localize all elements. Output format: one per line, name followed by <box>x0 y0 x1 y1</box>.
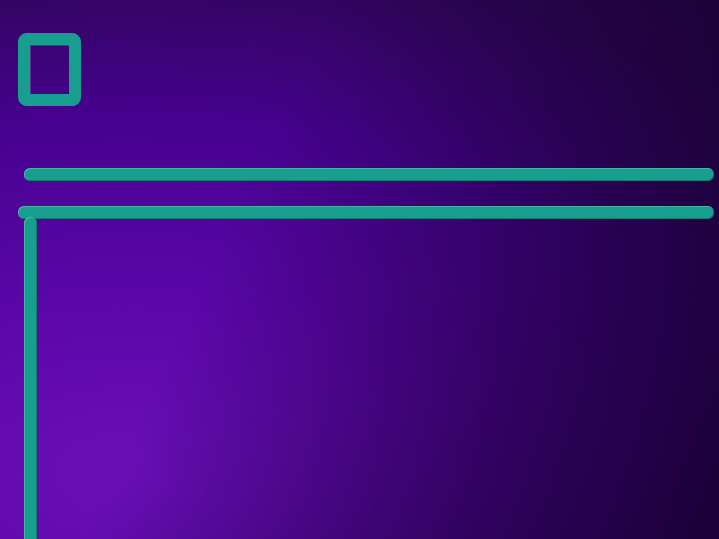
presentation-slide: Real-Time Acquisition of Communications … <box>0 0 719 539</box>
decorative-vertical-bar-left <box>24 217 37 539</box>
decorative-horizontal-bar-bottom <box>18 206 714 219</box>
decorative-horizontal-bar-top <box>24 168 714 181</box>
decorative-square-outline <box>18 33 81 106</box>
